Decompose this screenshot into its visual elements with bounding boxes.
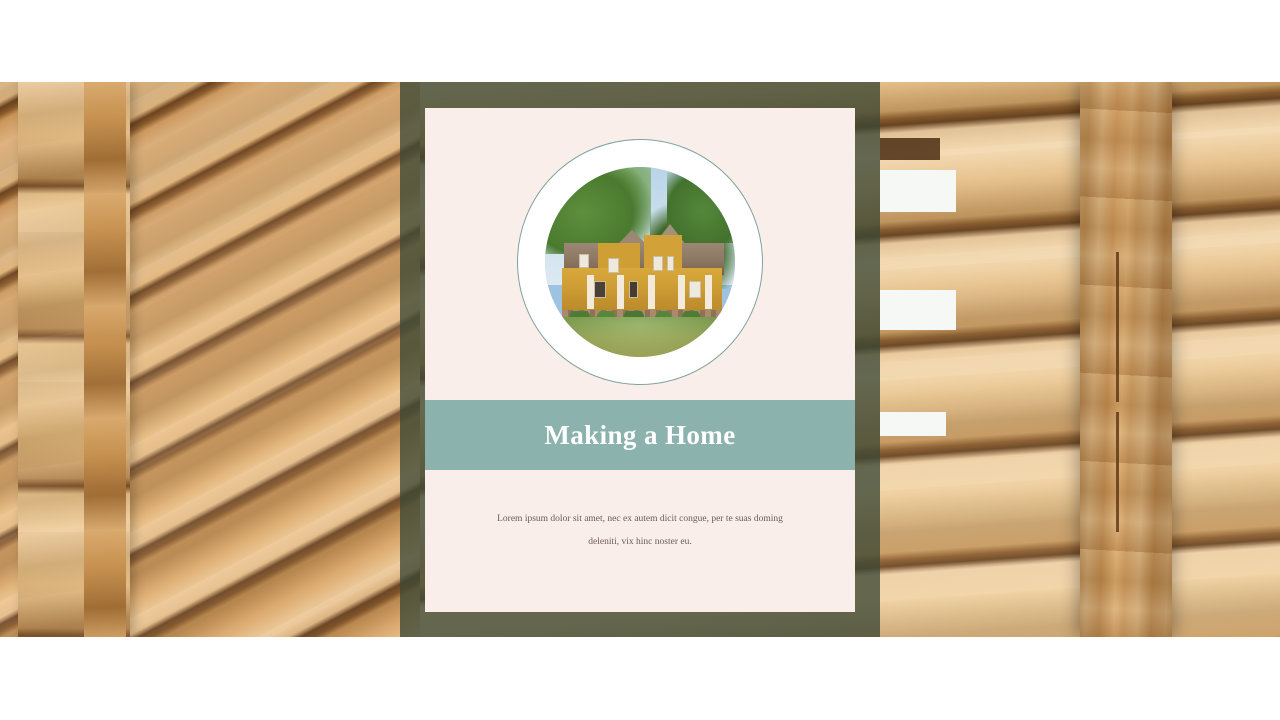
photo-porch-post xyxy=(587,275,594,309)
title-band: Making a Home xyxy=(425,400,855,470)
photo-porch-post xyxy=(705,275,712,309)
photo-window xyxy=(608,258,619,273)
log-gap-highlight xyxy=(880,290,956,330)
card-body-area: Lorem ipsum dolor sit amet, nec ex autem… xyxy=(425,470,855,612)
slide-canvas: Making a Home Lorem ipsum dolor sit amet… xyxy=(0,0,1280,720)
photo-window xyxy=(594,281,605,298)
circular-photo-frame xyxy=(517,139,763,385)
corner-notch-end-grain xyxy=(84,82,126,637)
post-crack xyxy=(1116,252,1119,402)
photo-porch-post xyxy=(617,275,624,309)
post-crack xyxy=(1116,412,1119,532)
house-photo xyxy=(545,167,735,357)
photo-porch-post xyxy=(678,275,685,309)
log-gap-highlight xyxy=(880,412,946,436)
slide-body-text: Lorem ipsum dolor sit amet, nec ex autem… xyxy=(490,508,790,555)
photo-window xyxy=(689,281,700,298)
photo-lawn xyxy=(545,317,735,357)
card-photo-area xyxy=(425,108,855,400)
photo-window xyxy=(667,256,675,271)
photo-window xyxy=(653,256,663,271)
photo-porch-post xyxy=(648,275,655,309)
slide-title: Making a Home xyxy=(544,420,735,451)
log-gap-highlight xyxy=(880,170,956,212)
log-shadow-band xyxy=(880,138,940,160)
vertical-corner-post xyxy=(1080,82,1172,637)
photo-window xyxy=(579,254,589,267)
content-card: Making a Home Lorem ipsum dolor sit amet… xyxy=(425,108,855,612)
photo-window xyxy=(629,281,639,298)
